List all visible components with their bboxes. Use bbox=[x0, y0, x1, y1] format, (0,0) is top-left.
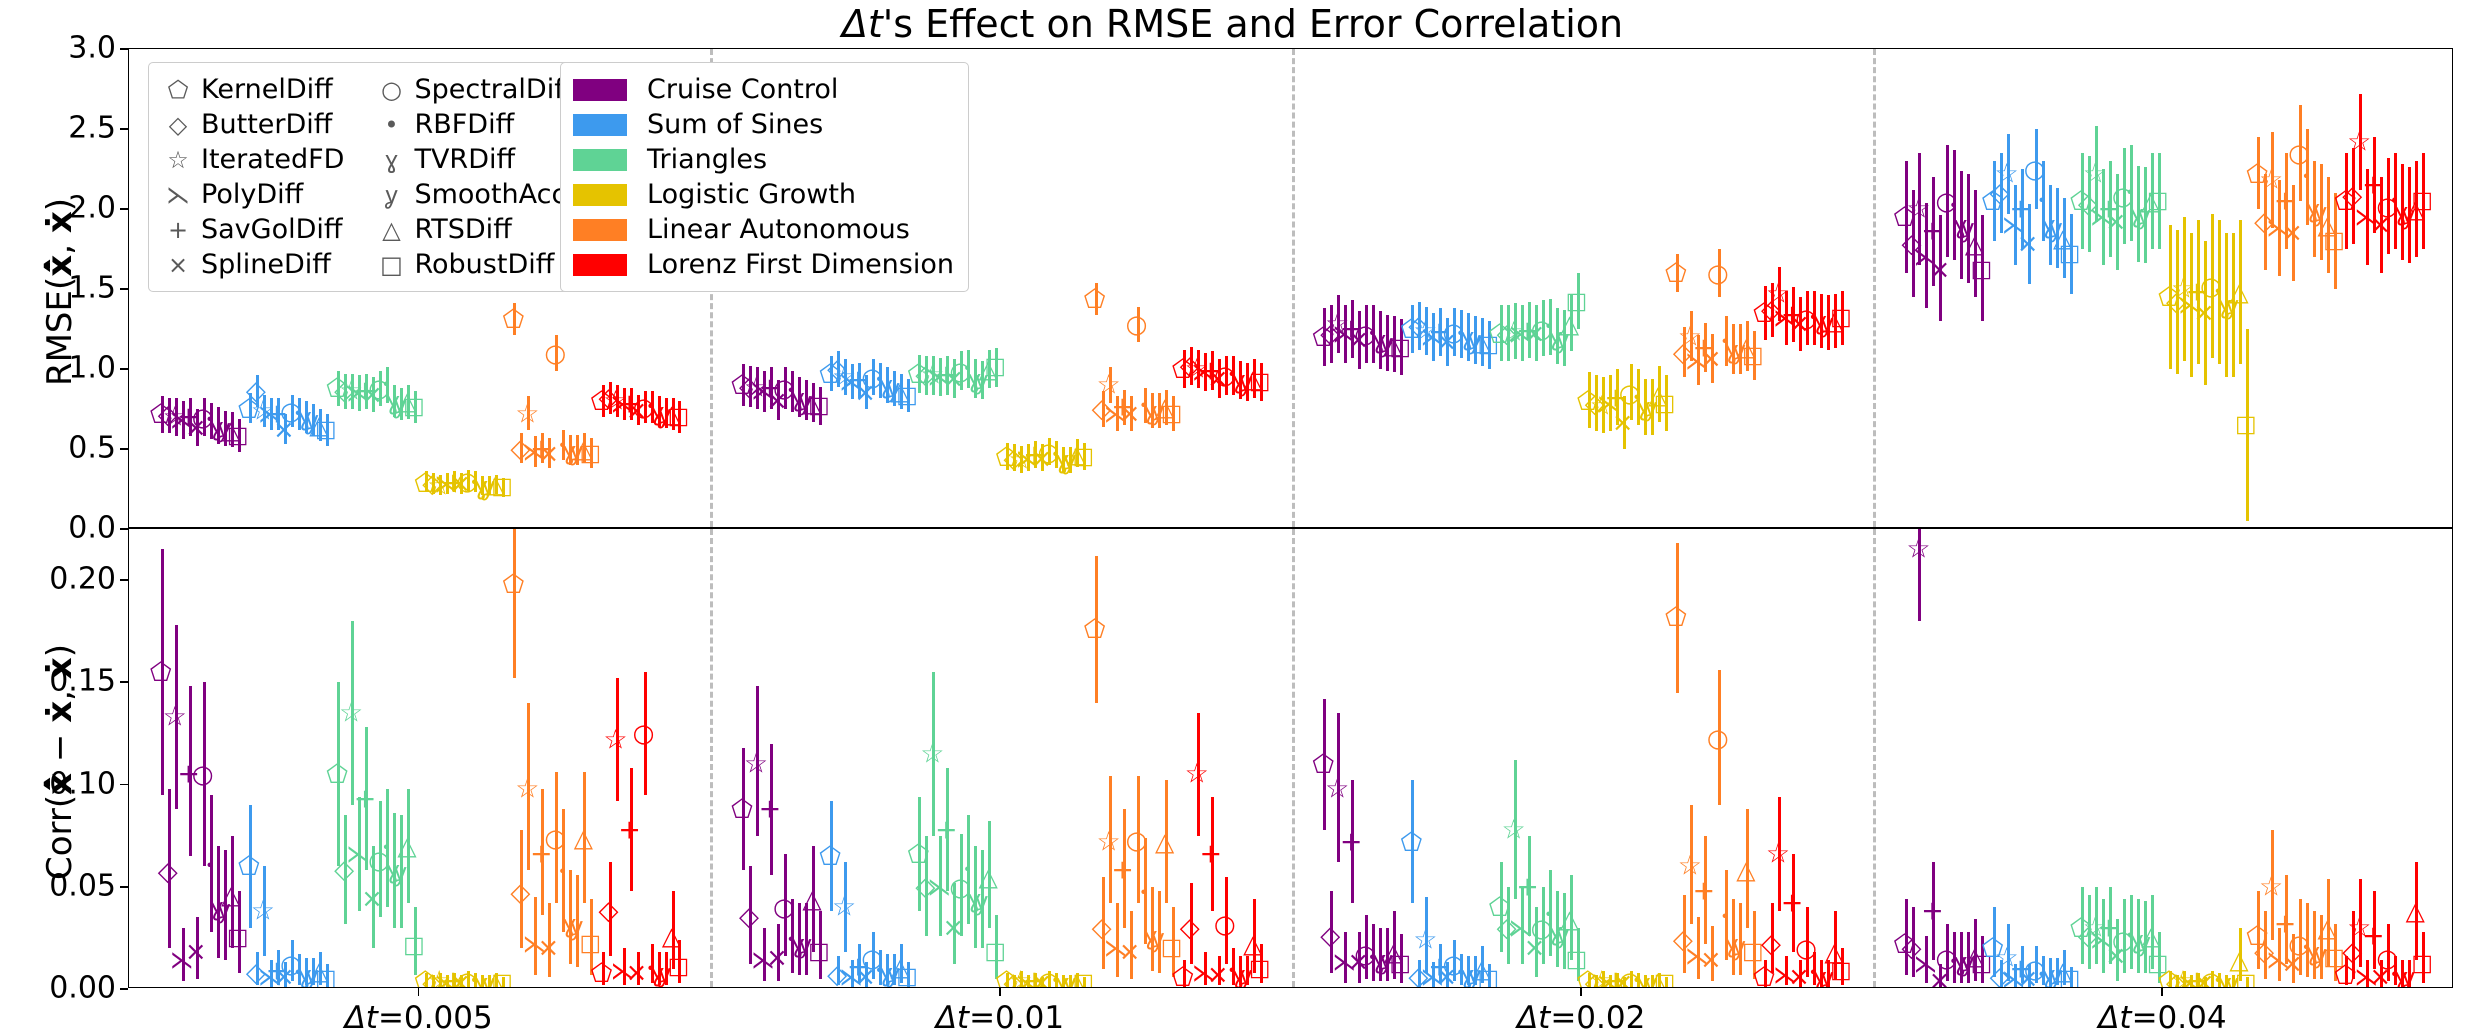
y-tick-mark bbox=[120, 208, 128, 210]
data-point-marker: • bbox=[382, 840, 391, 855]
data-point-marker: ☆ bbox=[2347, 128, 2371, 155]
data-point-marker: □ bbox=[1566, 290, 1588, 313]
legend-item[interactable]: ⬠KernelDiff bbox=[161, 72, 344, 107]
y-tick-label: 0.5 bbox=[4, 431, 116, 466]
data-point-marker: ◇ bbox=[1320, 923, 1340, 949]
data-point-marker: □ bbox=[403, 935, 425, 958]
data-point-marker: □ bbox=[2411, 190, 2433, 213]
data-point-marker: ☆ bbox=[515, 775, 539, 802]
data-point-marker: □ bbox=[1249, 370, 1271, 393]
legend-item[interactable]: Cruise Control bbox=[573, 72, 954, 107]
data-point-marker: + bbox=[759, 796, 782, 823]
group-separator bbox=[1873, 49, 1876, 527]
group-separator bbox=[1292, 529, 1295, 987]
legend-method-label: RTSDiff bbox=[408, 214, 511, 245]
legend-marker-icon: ◇ bbox=[161, 113, 195, 137]
y-tick-label: 0.05 bbox=[4, 868, 116, 903]
legend-system-label: Logistic Growth bbox=[641, 179, 856, 210]
data-point-marker: ⬠ bbox=[1401, 829, 1423, 854]
data-point-marker: ☆ bbox=[2259, 873, 2283, 900]
legend-method-label: PolyDiff bbox=[195, 179, 303, 210]
x-tick-mark bbox=[418, 988, 420, 996]
legend-color-swatch bbox=[573, 184, 627, 206]
data-point-marker: ◇ bbox=[158, 859, 178, 885]
y-tick-label: 1.0 bbox=[4, 351, 116, 386]
group-separator bbox=[710, 529, 713, 987]
data-point-marker: × bbox=[1929, 257, 1951, 283]
x-tick-mark bbox=[1580, 988, 1582, 996]
data-point-marker: ○ bbox=[1126, 312, 1148, 337]
data-point-marker: □ bbox=[403, 396, 425, 419]
y-tick-mark bbox=[120, 579, 128, 581]
legend-method-label: RBFDiff bbox=[408, 109, 514, 140]
data-point-marker: ⬠ bbox=[503, 572, 525, 597]
data-point-marker: • bbox=[2302, 170, 2311, 185]
data-point-marker: + bbox=[1693, 877, 1716, 904]
data-point-marker: + bbox=[354, 785, 377, 812]
data-point-marker: ☆ bbox=[339, 700, 363, 727]
data-point-marker: □ bbox=[491, 476, 513, 499]
data-point-marker: □ bbox=[668, 955, 690, 978]
data-point-marker: • bbox=[963, 863, 972, 878]
y-tick-mark bbox=[120, 128, 128, 130]
data-point-marker: + bbox=[935, 816, 958, 843]
y-tick-label: 0.00 bbox=[4, 971, 116, 1006]
legend-marker-icon: ɣ bbox=[374, 148, 408, 172]
data-point-marker: □ bbox=[1249, 957, 1271, 980]
data-point-marker: △ bbox=[1155, 829, 1174, 854]
data-point-marker: ⬠ bbox=[1172, 964, 1194, 987]
data-point-marker: ỿ bbox=[394, 860, 407, 885]
legend-marker-icon: △ bbox=[374, 218, 408, 242]
legend-marker-icon: ỿ bbox=[374, 183, 408, 207]
data-point-marker: □ bbox=[1073, 971, 1095, 987]
y-tick-mark bbox=[120, 528, 128, 530]
y-tick-mark bbox=[120, 48, 128, 50]
data-point-marker: □ bbox=[491, 971, 513, 987]
data-point-marker: ☆ bbox=[1766, 841, 1790, 868]
data-point-marker: △ bbox=[979, 864, 998, 889]
data-point-marker: × bbox=[1207, 962, 1229, 987]
data-point-marker: □ bbox=[808, 394, 830, 417]
data-point-marker: □ bbox=[2235, 414, 2257, 437]
data-point-marker: ⬠ bbox=[503, 307, 525, 332]
data-point-marker: △ bbox=[397, 833, 416, 858]
data-point-marker: □ bbox=[227, 926, 249, 949]
legend-system-label: Cruise Control bbox=[641, 74, 838, 105]
x-tick-label: Δt=0.02 bbox=[1517, 1000, 1645, 1030]
data-point-marker: + bbox=[1516, 873, 1539, 900]
data-point-marker: ⬠ bbox=[1665, 604, 1687, 629]
data-point-marker: △ bbox=[802, 887, 821, 912]
data-point-marker: ⬠ bbox=[819, 844, 841, 869]
data-point-marker: ☆ bbox=[163, 704, 187, 731]
data-point-marker: ⬠ bbox=[591, 960, 613, 985]
legend-color-swatch bbox=[573, 149, 627, 171]
legend-method-label: KernelDiff bbox=[195, 74, 333, 105]
data-point-marker: × bbox=[185, 939, 207, 965]
data-point-marker: △ bbox=[2229, 280, 2248, 305]
data-point-marker: • bbox=[2037, 194, 2046, 209]
data-point-marker: □ bbox=[579, 933, 601, 956]
y-tick-mark bbox=[120, 886, 128, 888]
title-rest: 's Effect on RMSE and Error Correlation bbox=[883, 2, 1623, 46]
data-point-marker: ◇ bbox=[1761, 931, 1781, 957]
data-point-marker: × bbox=[1119, 401, 1141, 427]
legend-marker-icon: ⋋ bbox=[161, 183, 195, 207]
data-point-marker: □ bbox=[984, 941, 1006, 964]
data-point-marker: ◇ bbox=[599, 898, 619, 924]
title-delta-t: Δt bbox=[842, 2, 883, 46]
data-point-marker: + bbox=[1111, 857, 1134, 884]
y-tick-label: 0.15 bbox=[4, 664, 116, 699]
legend-item[interactable]: +SavGolDiff bbox=[161, 212, 344, 247]
legend-marker-icon: ☆ bbox=[161, 148, 195, 172]
data-point-marker: □ bbox=[1830, 959, 1852, 982]
panel-corr: ⬠◇☆⋋+×○•ɣỿ△□⬠◇☆⋋+×○•ɣỿ△□⬠◇☆⋋+×○•ɣỿ△□⬠◇☆⋋… bbox=[128, 528, 2453, 988]
legend-color-swatch bbox=[573, 114, 627, 136]
data-point-marker: • bbox=[558, 865, 567, 880]
data-point-marker: △ bbox=[1736, 858, 1755, 883]
data-point-marker: ☆ bbox=[1325, 775, 1349, 802]
data-point-marker: ⬠ bbox=[731, 797, 753, 822]
data-point-marker: ⬠ bbox=[1084, 286, 1106, 311]
y-tick-label: 0.10 bbox=[4, 766, 116, 801]
y-tick-label: 0.0 bbox=[4, 511, 116, 546]
y-tick-mark bbox=[120, 448, 128, 450]
legend-marker-icon: + bbox=[161, 218, 195, 242]
legend-item[interactable]: Lorenz First Dimension bbox=[573, 247, 954, 282]
data-point-marker: ○ bbox=[1214, 911, 1236, 936]
data-point-marker: □ bbox=[579, 442, 601, 465]
legend-color-swatch bbox=[573, 219, 627, 241]
data-point-marker: × bbox=[537, 441, 559, 467]
data-point-marker: ☆ bbox=[603, 726, 627, 753]
y-tick-mark bbox=[120, 288, 128, 290]
data-point-marker: ○ bbox=[633, 721, 655, 746]
data-point-marker: ◇ bbox=[510, 880, 530, 906]
data-point-marker: + bbox=[1781, 890, 1804, 917]
data-point-marker: ☆ bbox=[1185, 761, 1209, 788]
legend-marker-icon: ⬠ bbox=[161, 78, 195, 102]
legend-item[interactable]: ☆IteratedFD bbox=[161, 142, 344, 177]
data-point-marker: ☆ bbox=[832, 894, 856, 921]
legend-color-swatch bbox=[573, 79, 627, 101]
legend-system-label: Linear Autonomous bbox=[641, 214, 910, 245]
legend-method-label: SplineDiff bbox=[195, 249, 331, 280]
y-tick-label: 2.5 bbox=[4, 111, 116, 146]
data-point-marker: □ bbox=[2147, 190, 2169, 213]
data-point-marker: • bbox=[2125, 186, 2134, 201]
legend-marker-icon: □ bbox=[374, 253, 408, 277]
legend-method-label: RobustDiff bbox=[408, 249, 554, 280]
data-point-marker: • bbox=[1139, 885, 1148, 900]
legend-item[interactable]: Logistic Growth bbox=[573, 177, 954, 212]
x-tick-label: Δt=0.005 bbox=[345, 1000, 493, 1030]
legend-methods-column-1: ⬠KernelDiff◇ButterDiff☆IteratedFD⋋PolyDi… bbox=[161, 72, 344, 282]
legend-method-label: SpectralDiff bbox=[408, 74, 572, 105]
data-point-marker: × bbox=[2281, 220, 2303, 246]
data-point-marker: ☆ bbox=[920, 740, 944, 767]
x-tick-mark bbox=[2161, 988, 2163, 996]
data-point-marker: □ bbox=[1654, 393, 1676, 416]
y-tick-label: 3.0 bbox=[4, 31, 116, 66]
data-point-marker: × bbox=[537, 935, 559, 961]
data-point-marker: ⬠ bbox=[326, 762, 348, 787]
legend-method-label: SavGolDiff bbox=[195, 214, 343, 245]
data-point-marker: ◇ bbox=[739, 904, 759, 930]
legend-color-swatch bbox=[573, 254, 627, 276]
data-point-marker: △ bbox=[574, 825, 593, 850]
data-point-marker: ⬠ bbox=[150, 660, 172, 685]
legend-system-label: Sum of Sines bbox=[641, 109, 823, 140]
data-point-marker: ☆ bbox=[1097, 828, 1121, 855]
data-point-marker: ○ bbox=[1707, 261, 1729, 286]
data-point-marker: □ bbox=[227, 425, 249, 448]
data-point-marker: □ bbox=[1971, 258, 1993, 281]
legend-system-label: Triangles bbox=[641, 144, 767, 175]
data-point-marker: □ bbox=[2235, 971, 2257, 987]
data-point-marker: + bbox=[1921, 898, 1944, 925]
data-point-marker: □ bbox=[984, 356, 1006, 379]
data-point-marker: □ bbox=[1477, 967, 1499, 987]
group-separator bbox=[1873, 529, 1876, 987]
data-point-marker: □ bbox=[896, 965, 918, 987]
data-point-marker: × bbox=[1700, 346, 1722, 372]
data-point-marker: □ bbox=[1161, 402, 1183, 425]
legend-method-label: ButterDiff bbox=[195, 109, 332, 140]
legend-item[interactable]: Sum of Sines bbox=[573, 107, 954, 142]
data-point-marker: ⬠ bbox=[238, 854, 260, 879]
data-point-marker: × bbox=[1119, 939, 1141, 965]
data-point-marker: ○ bbox=[192, 762, 214, 787]
data-point-marker: ☆ bbox=[1906, 536, 1930, 563]
data-point-marker: □ bbox=[315, 418, 337, 441]
data-point-marker: × bbox=[1700, 947, 1722, 973]
data-point-marker: □ bbox=[668, 406, 690, 429]
data-point-marker: + bbox=[618, 816, 641, 843]
data-point-marker: ☆ bbox=[251, 898, 275, 925]
legend-system-label: Lorenz First Dimension bbox=[641, 249, 954, 280]
data-point-marker: ◇ bbox=[1180, 915, 1200, 941]
x-tick-label: Δt=0.01 bbox=[936, 1000, 1064, 1030]
data-point-marker: □ bbox=[1073, 446, 1095, 469]
y-tick-label: 1.5 bbox=[4, 271, 116, 306]
data-point-marker: □ bbox=[2323, 230, 2345, 253]
figure-title: Δt's Effect on RMSE and Error Correlatio… bbox=[0, 2, 2465, 46]
legend-item[interactable]: Linear Autonomous bbox=[573, 212, 954, 247]
legend-item[interactable]: ⋋PolyDiff bbox=[161, 177, 344, 212]
y-tick-label: 2.0 bbox=[4, 191, 116, 226]
data-point-marker: □ bbox=[2411, 953, 2433, 976]
data-point-marker: □ bbox=[1742, 345, 1764, 368]
data-point-marker: × bbox=[2017, 231, 2039, 257]
data-point-marker: □ bbox=[2059, 967, 2081, 987]
data-point-marker: • bbox=[205, 859, 214, 874]
legend-marker-icon: × bbox=[161, 253, 195, 277]
legend-item[interactable]: Triangles bbox=[573, 142, 954, 177]
data-point-marker: ☆ bbox=[515, 400, 539, 427]
legend-marker-icon: • bbox=[374, 113, 408, 137]
legend-item[interactable]: ◇ButterDiff bbox=[161, 107, 344, 142]
legend-method-label: IteratedFD bbox=[195, 144, 344, 175]
data-point-marker: △ bbox=[2406, 899, 2425, 924]
data-point-marker: ☆ bbox=[744, 751, 768, 778]
y-tick-mark bbox=[120, 988, 128, 990]
x-tick-label: Δt=0.04 bbox=[2098, 1000, 2226, 1030]
data-point-marker: × bbox=[626, 960, 648, 986]
data-point-marker: ☆ bbox=[1995, 160, 2019, 187]
legend-systems: Cruise ControlSum of SinesTrianglesLogis… bbox=[560, 62, 969, 292]
y-tick-mark bbox=[120, 368, 128, 370]
data-point-marker: ☆ bbox=[1501, 816, 1525, 843]
y-tick-mark bbox=[120, 681, 128, 683]
legend-item[interactable]: ×SplineDiff bbox=[161, 247, 344, 282]
data-point-marker: □ bbox=[1830, 306, 1852, 329]
legend-marker-icon: ○ bbox=[374, 78, 408, 102]
data-point-marker: ỿ bbox=[975, 889, 988, 914]
data-point-marker: □ bbox=[315, 967, 337, 987]
x-tick-mark bbox=[999, 988, 1001, 996]
data-point-marker: ○ bbox=[544, 341, 566, 366]
legend-method-label: TVRDiff bbox=[408, 144, 515, 175]
data-point-marker: □ bbox=[2059, 242, 2081, 265]
error-bar bbox=[513, 529, 516, 678]
data-point-marker: ⬠ bbox=[1665, 261, 1687, 286]
data-point-marker: ☆ bbox=[1413, 926, 1437, 953]
group-separator bbox=[1292, 49, 1295, 527]
data-point-marker: • bbox=[1720, 910, 1729, 925]
y-tick-mark bbox=[120, 784, 128, 786]
figure-root: Δt's Effect on RMSE and Error Correlatio… bbox=[0, 0, 2465, 1030]
data-point-marker: ⬠ bbox=[1084, 617, 1106, 642]
data-point-marker: + bbox=[1199, 841, 1222, 868]
data-point-marker: ○ bbox=[1707, 725, 1729, 750]
plot-area-corr: ⬠◇☆⋋+×○•ɣỿ△□⬠◇☆⋋+×○•ɣỿ△□⬠◇☆⋋+×○•ɣỿ△□⬠◇☆⋋… bbox=[129, 529, 2452, 987]
data-point-marker: □ bbox=[1654, 971, 1676, 987]
data-point-marker: + bbox=[1340, 828, 1363, 855]
y-tick-label: 0.20 bbox=[4, 562, 116, 597]
